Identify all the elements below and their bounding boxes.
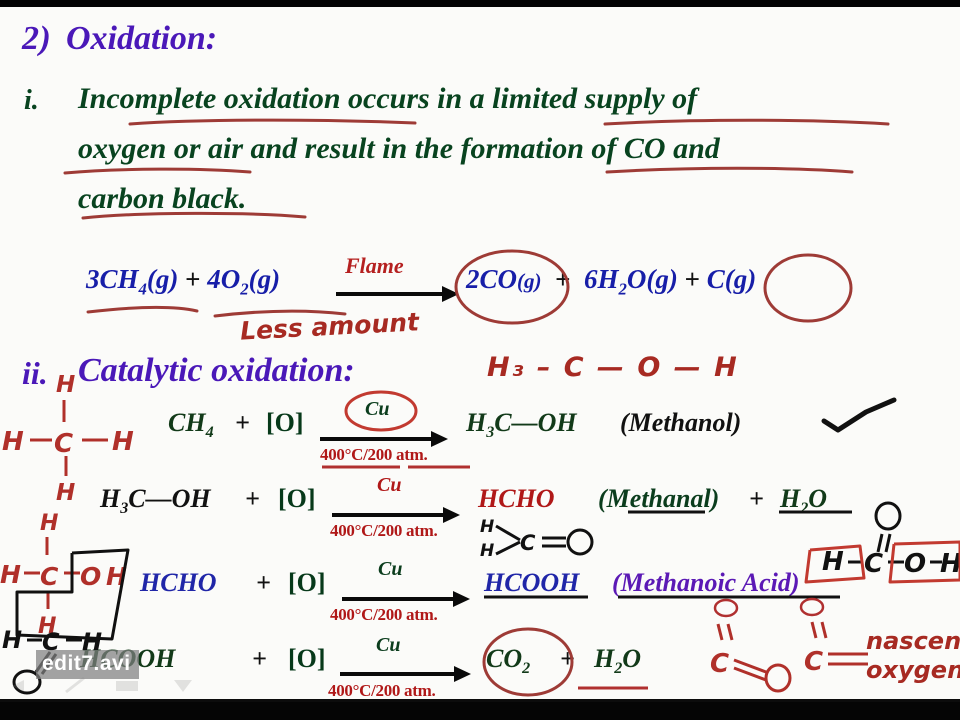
letterbox-bottom	[0, 702, 960, 720]
structure-formaldehyde-sketch: H H C	[480, 512, 620, 568]
circle-around-co2	[484, 629, 572, 695]
structure-methane-sketch: H H C H H	[0, 360, 200, 500]
undo-icon	[12, 680, 24, 692]
letterbox-top	[0, 0, 960, 7]
svg-text:C: C	[520, 531, 536, 555]
annotation-oxygen: oxygen	[866, 656, 960, 684]
svg-text:H: H	[480, 541, 494, 561]
svg-text:H: H	[56, 372, 75, 398]
svg-text:O: O	[904, 549, 926, 579]
svg-text:H: H	[2, 626, 22, 654]
player-controls-icons[interactable]	[6, 672, 256, 698]
svg-text:H: H	[480, 517, 494, 537]
eraser-icon	[116, 681, 138, 691]
svg-text:C: C	[54, 429, 73, 459]
svg-text:H: H	[56, 480, 75, 506]
pen-icon	[66, 678, 84, 692]
svg-text:H: H	[0, 560, 21, 589]
svg-text:H: H	[112, 427, 134, 457]
svg-text:C: C	[40, 562, 59, 591]
svg-text:H: H	[822, 547, 844, 577]
svg-text:C: C	[710, 649, 729, 679]
circle-around-catalyst-cu	[346, 392, 416, 430]
svg-text:O: O	[80, 562, 101, 591]
redo-icon	[174, 680, 192, 692]
annotation-nascent: nascent	[866, 627, 960, 655]
svg-text:H: H	[2, 427, 24, 457]
slide-canvas: 2) Oxidation: i. Incomplete oxidation oc…	[0, 0, 960, 720]
svg-text:C: C	[864, 549, 883, 579]
structure-formic-acid-sketch-right: H C O H	[790, 498, 960, 588]
svg-text:H: H	[40, 511, 58, 536]
svg-text:H: H	[940, 549, 960, 579]
svg-text:C: C	[804, 647, 823, 677]
check-mark	[824, 400, 894, 430]
